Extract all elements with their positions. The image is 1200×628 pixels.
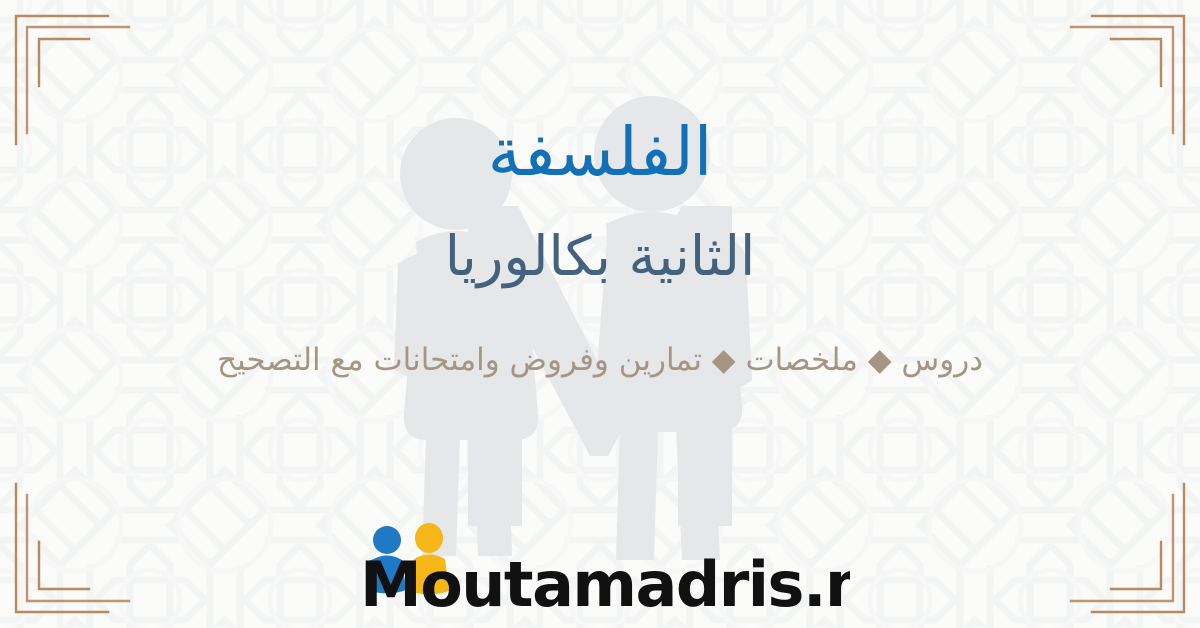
page-title: الفلسفة — [488, 118, 713, 188]
banner-subtitle-level: الثانية بكالوريا — [445, 228, 756, 286]
site-logo[interactable]: Moutamadris.ma — [0, 518, 1200, 614]
logo-mark-and-wordmark: Moutamadris.ma — [350, 518, 850, 614]
banner-tagline-features: دروس ◆ ملخصات ◆ تمارين وفروض وامتحانات م… — [217, 343, 983, 377]
course-banner: الفلسفة الثانية بكالوريا دروس ◆ ملخصات ◆… — [0, 0, 1200, 628]
svg-text:Moutamadris.ma: Moutamadris.ma — [360, 548, 850, 614]
